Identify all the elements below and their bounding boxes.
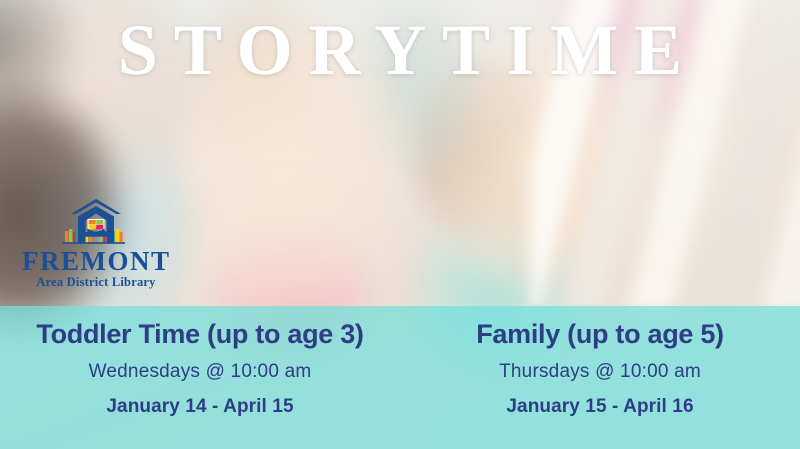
fremont-library-house-icon xyxy=(59,198,133,248)
page-title: STORYTIME xyxy=(0,14,800,86)
program-date-range: January 14 - April 15 xyxy=(0,396,400,419)
program-schedule: Wednesdays @ 10:00 am xyxy=(0,361,400,384)
library-logo: FREMONT Area District Library xyxy=(22,198,170,290)
logo-wordmark: FREMONT xyxy=(22,247,170,275)
program-column-family: Family (up to age 5) Thursdays @ 10:00 a… xyxy=(400,306,800,449)
program-info-band: Toddler Time (up to age 3) Wednesdays @ … xyxy=(0,306,800,449)
program-title: Toddler Time (up to age 3) xyxy=(0,319,400,350)
program-date-range: January 15 - April 16 xyxy=(400,396,800,419)
program-column-toddler-time: Toddler Time (up to age 3) Wednesdays @ … xyxy=(0,306,400,449)
logo-tagline: Area District Library xyxy=(22,276,170,290)
storytime-poster: STORYTIME xyxy=(0,0,800,449)
program-schedule: Thursdays @ 10:00 am xyxy=(400,361,800,384)
program-title: Family (up to age 5) xyxy=(400,319,800,350)
